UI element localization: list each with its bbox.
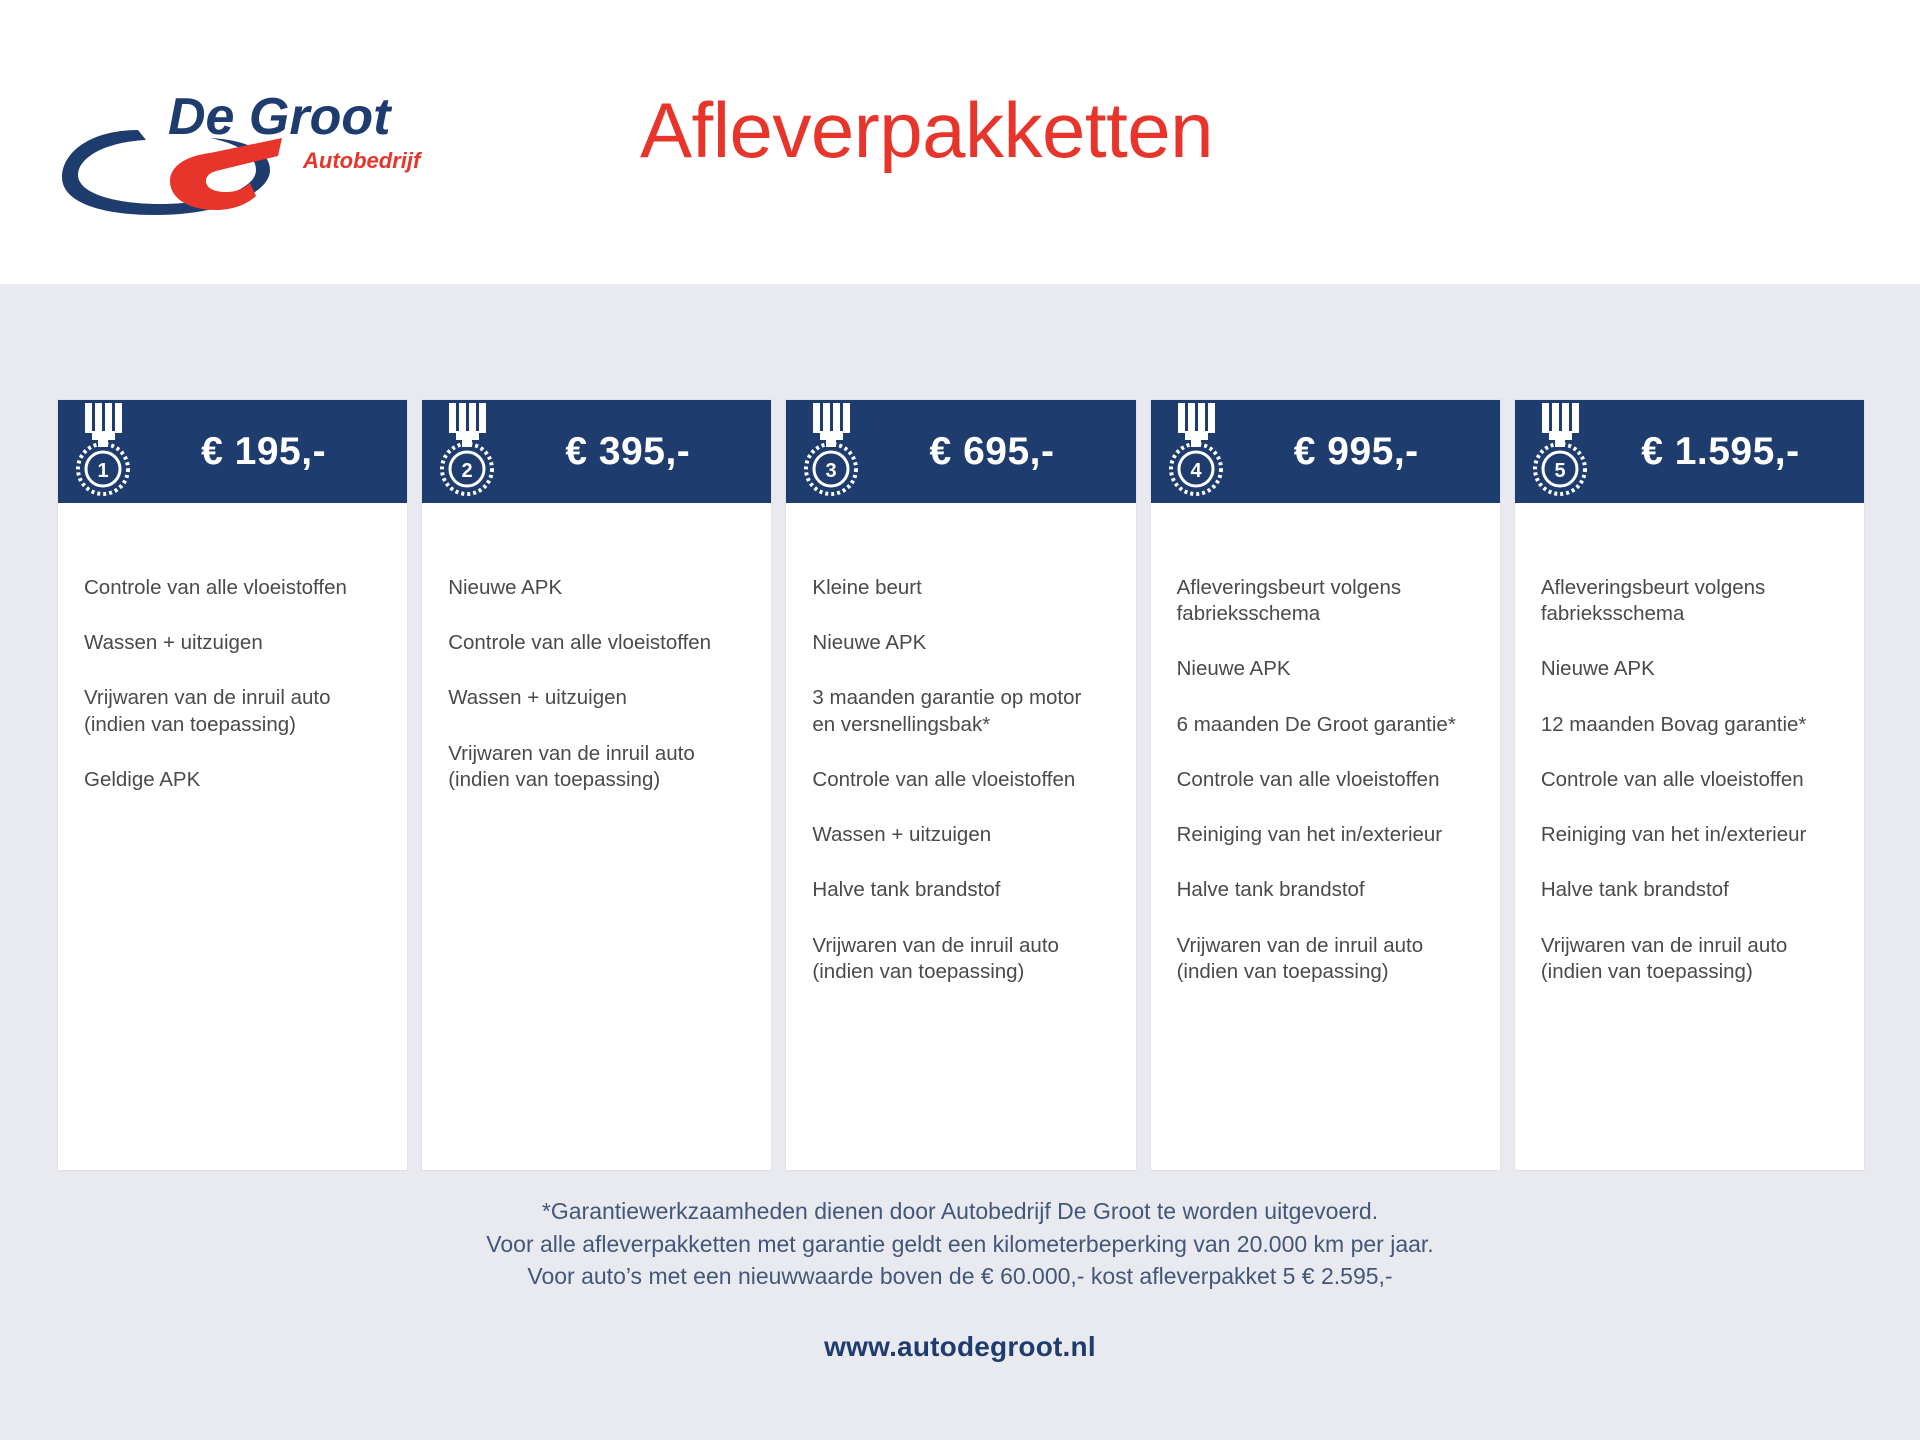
package-feature-list: Nieuwe APK Controle van alle vloeistoffe… bbox=[422, 503, 771, 1170]
feature-item: Vrijwaren van de inruil auto (indien van… bbox=[448, 741, 745, 793]
feature-item: 3 maanden garantie op motor en versnelli… bbox=[812, 685, 1109, 737]
package-card[interactable]: 5 € 1.595,- Afleveringsbeurt volgens fab… bbox=[1515, 400, 1864, 1170]
package-card-header: 2 € 395,- bbox=[422, 400, 771, 503]
package-card[interactable]: 2 € 395,- Nieuwe APK Controle van alle v… bbox=[422, 400, 771, 1170]
package-card[interactable]: 3 € 695,- Kleine beurt Nieuwe APK 3 maan… bbox=[786, 400, 1135, 1170]
feature-item: Nieuwe APK bbox=[1541, 656, 1838, 682]
feature-item: 6 maanden De Groot garantie* bbox=[1177, 712, 1474, 738]
feature-item: Kleine beurt bbox=[812, 575, 1109, 601]
feature-item: Halve tank brandstof bbox=[1541, 877, 1838, 903]
feature-item: Reiniging van het in/exterieur bbox=[1177, 822, 1474, 848]
feature-item: Geldige APK bbox=[84, 767, 381, 793]
feature-item: Vrijwaren van de inruil auto (indien van… bbox=[812, 933, 1109, 985]
logo-graphic: De Groot Autobedrijf bbox=[60, 82, 460, 217]
page-title: Afleverpakketten bbox=[640, 88, 1540, 174]
feature-item: Wassen + uitzuigen bbox=[448, 685, 745, 711]
company-logo: De Groot Autobedrijf bbox=[60, 82, 460, 217]
package-card[interactable]: 1 € 195,- Controle van alle vloeistoffen… bbox=[58, 400, 407, 1170]
website-url[interactable]: www.autodegroot.nl bbox=[0, 1331, 1920, 1363]
package-feature-list: Afleveringsbeurt volgens fabrieksschema … bbox=[1515, 503, 1864, 1170]
package-card-header: 5 € 1.595,- bbox=[1515, 400, 1864, 503]
package-feature-list: Controle van alle vloeistoffen Wassen + … bbox=[58, 503, 407, 1170]
feature-item: Controle van alle vloeistoffen bbox=[1541, 767, 1838, 793]
medal-icon: 3 bbox=[800, 403, 862, 497]
medal-rank-number: 3 bbox=[826, 460, 837, 482]
medal-icon: 2 bbox=[436, 403, 498, 497]
package-price: € 995,- bbox=[1227, 430, 1482, 474]
logo-subtitle-text: Autobedrijf bbox=[302, 148, 423, 173]
feature-item: Vrijwaren van de inruil auto (indien van… bbox=[1541, 933, 1838, 985]
feature-item: 12 maanden Bovag garantie* bbox=[1541, 712, 1838, 738]
package-feature-list: Afleveringsbeurt volgens fabrieksschema … bbox=[1151, 503, 1500, 1170]
package-price: € 695,- bbox=[862, 430, 1117, 474]
feature-item: Vrijwaren van de inruil auto (indien van… bbox=[84, 685, 381, 737]
feature-item: Nieuwe APK bbox=[448, 575, 745, 601]
medal-icon: 1 bbox=[72, 403, 134, 497]
package-card[interactable]: 4 € 995,- Afleveringsbeurt volgens fabri… bbox=[1151, 400, 1500, 1170]
medal-rank-number: 2 bbox=[462, 460, 473, 482]
feature-item: Wassen + uitzuigen bbox=[812, 822, 1109, 848]
medal-rank-number: 4 bbox=[1190, 460, 1202, 482]
feature-item: Halve tank brandstof bbox=[1177, 877, 1474, 903]
medal-rank-number: 1 bbox=[97, 460, 108, 482]
feature-item: Wassen + uitzuigen bbox=[84, 630, 381, 656]
feature-item: Halve tank brandstof bbox=[812, 877, 1109, 903]
feature-item: Afleveringsbeurt volgens fabrieksschema bbox=[1541, 575, 1838, 627]
feature-item: Controle van alle vloeistoffen bbox=[812, 767, 1109, 793]
package-feature-list: Kleine beurt Nieuwe APK 3 maanden garant… bbox=[786, 503, 1135, 1170]
package-price: € 195,- bbox=[134, 430, 389, 474]
feature-item: Reiniging van het in/exterieur bbox=[1541, 822, 1838, 848]
page-footer: *Garantiewerkzaamheden dienen door Autob… bbox=[0, 1195, 1920, 1363]
footer-disclaimer-line: *Garantiewerkzaamheden dienen door Autob… bbox=[0, 1195, 1920, 1228]
logo-brand-text: De Groot bbox=[168, 88, 393, 146]
package-price: € 1.595,- bbox=[1591, 430, 1846, 474]
feature-item: Controle van alle vloeistoffen bbox=[448, 630, 745, 656]
package-card-header: 4 € 995,- bbox=[1151, 400, 1500, 503]
page-header: De Groot Autobedrijf Afleverpakketten bbox=[0, 0, 1920, 284]
footer-disclaimer-line: Voor auto’s met een nieuwwaarde boven de… bbox=[0, 1260, 1920, 1293]
medal-icon: 4 bbox=[1165, 403, 1227, 497]
feature-item: Controle van alle vloeistoffen bbox=[1177, 767, 1474, 793]
feature-item: Controle van alle vloeistoffen bbox=[84, 575, 381, 601]
package-cards-row: 1 € 195,- Controle van alle vloeistoffen… bbox=[58, 400, 1864, 1170]
package-card-header: 3 € 695,- bbox=[786, 400, 1135, 503]
feature-item: Nieuwe APK bbox=[812, 630, 1109, 656]
package-price: € 395,- bbox=[498, 430, 753, 474]
feature-item: Nieuwe APK bbox=[1177, 656, 1474, 682]
feature-item: Afleveringsbeurt volgens fabrieksschema bbox=[1177, 575, 1474, 627]
medal-rank-number: 5 bbox=[1554, 460, 1565, 482]
medal-icon: 5 bbox=[1529, 403, 1591, 497]
feature-item: Vrijwaren van de inruil auto (indien van… bbox=[1177, 933, 1474, 985]
footer-disclaimer-line: Voor alle afleverpakketten met garantie … bbox=[0, 1228, 1920, 1261]
package-card-header: 1 € 195,- bbox=[58, 400, 407, 503]
